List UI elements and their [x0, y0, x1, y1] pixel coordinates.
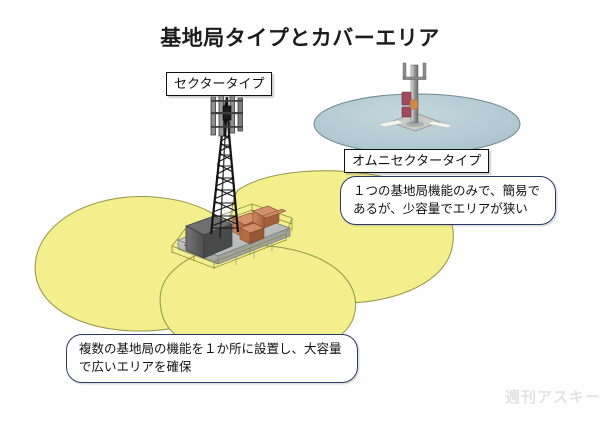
diagram-canvas: 基地局タイプとカバーエリア セクタータイプ オムニセクタータイプ １つの基地局機…	[0, 0, 600, 424]
label-omni-sector-type: オムニセクタータイプ	[344, 149, 489, 173]
label-sector-type: セクタータイプ	[166, 72, 272, 96]
page-title: 基地局タイプとカバーエリア	[0, 22, 600, 52]
callout-sector-description: 複数の基地局の機能を１か所に設置し、大容量 で広いエリアを確保	[66, 334, 358, 383]
watermark: 週刊アスキー	[505, 386, 600, 407]
callout-omni-description: １つの基地局機能のみで、簡易で あるが、少容量でエリアが狭い	[340, 176, 556, 225]
